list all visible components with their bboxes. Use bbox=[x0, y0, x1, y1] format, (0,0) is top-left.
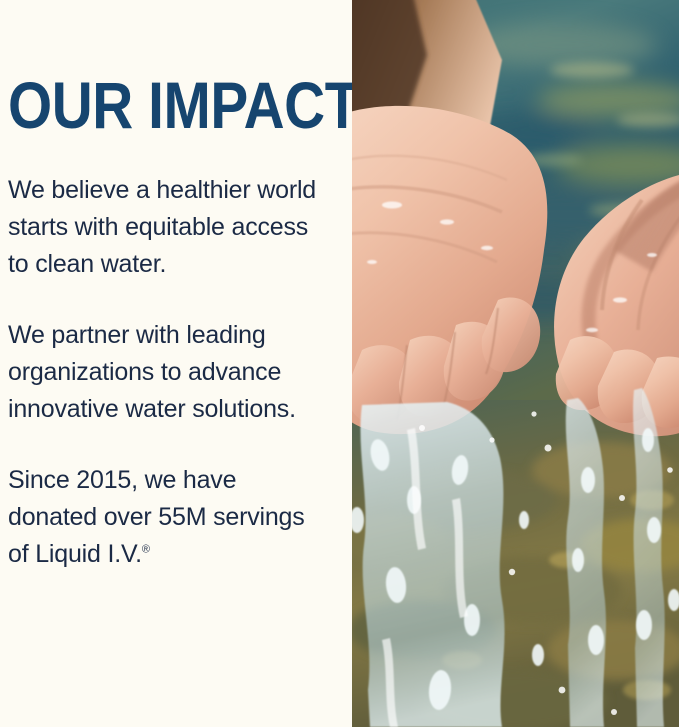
hands-holding-water-photo bbox=[352, 0, 679, 727]
our-impact-panel: OUR IMPACT We believe a healthier world … bbox=[0, 0, 679, 727]
impact-paragraph-3: Since 2015, we have donated over 55M ser… bbox=[8, 462, 328, 573]
page-title: OUR IMPACT bbox=[8, 71, 359, 139]
registered-trademark-symbol: ® bbox=[142, 544, 150, 556]
impact-paragraph-3-text: Since 2015, we have donated over 55M ser… bbox=[8, 466, 305, 568]
impact-paragraph-1: We believe a healthier world starts with… bbox=[8, 172, 328, 283]
body-copy: We believe a healthier world starts with… bbox=[8, 172, 328, 573]
impact-paragraph-2: We partner with leading organizations to… bbox=[8, 317, 328, 428]
photo-illustration bbox=[352, 0, 679, 727]
text-panel: OUR IMPACT We believe a healthier world … bbox=[0, 0, 352, 727]
